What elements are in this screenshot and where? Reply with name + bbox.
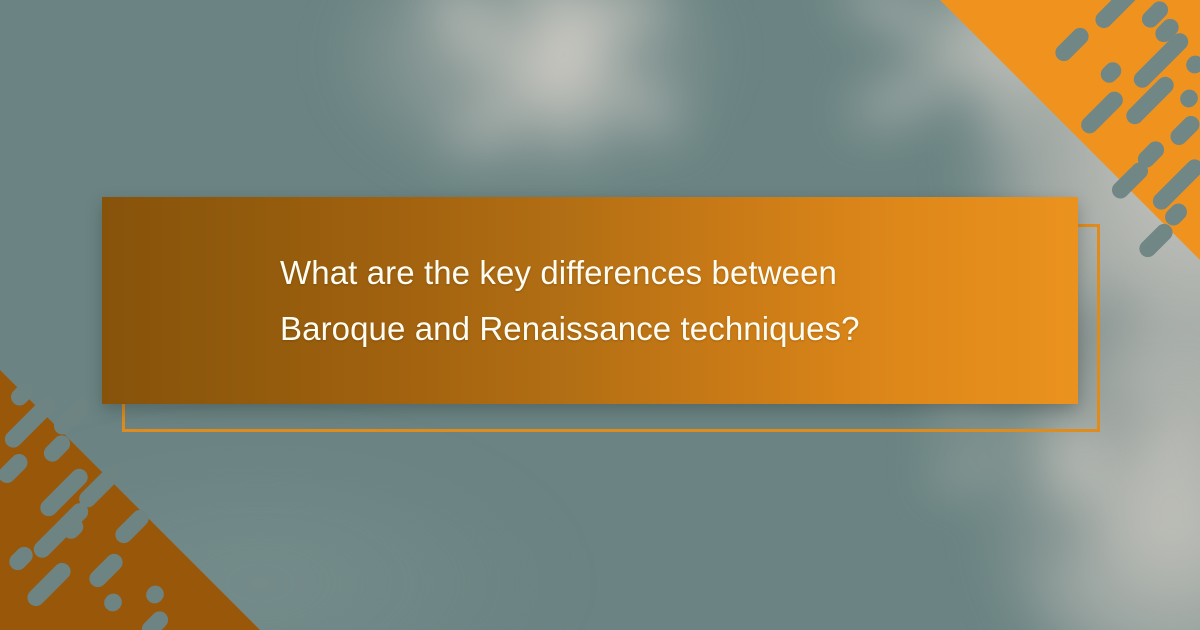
bokeh-dot <box>1102 406 1146 450</box>
question-banner: What are the key differences between Bar… <box>102 197 1078 404</box>
bokeh-dot <box>1018 500 1088 560</box>
poster-canvas: What are the key differences between Bar… <box>0 0 1200 630</box>
question-text: What are the key differences between Bar… <box>102 245 1078 357</box>
